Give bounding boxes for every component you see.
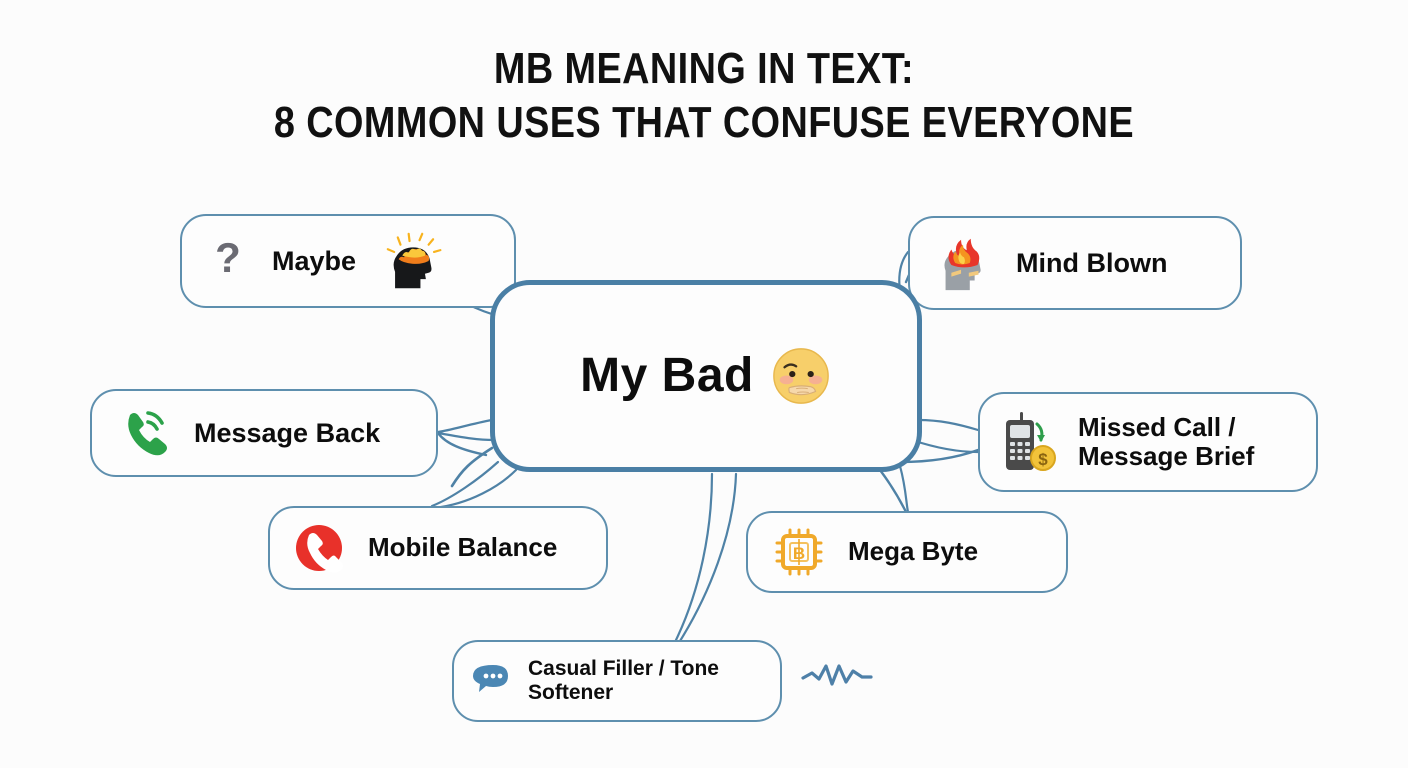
green-phone-with-waves-icon — [118, 407, 170, 459]
node-label-missed-call: Missed Call / Message Brief — [1078, 413, 1254, 471]
node-maybe[interactable]: ? Maybe — [180, 214, 516, 308]
chip-with-bitcoin-icon: B — [774, 527, 824, 577]
mobile-phone-with-dollar-coin-icon: $ — [1000, 410, 1060, 474]
question-mark-icon: ? — [210, 238, 246, 284]
node-label-mega-byte: Mega Byte — [848, 537, 978, 566]
node-label-mind-blown: Mind Blown — [1016, 248, 1167, 278]
svg-text:$: $ — [1038, 450, 1048, 469]
title-line-1: MB MEANING IN TEXT: — [99, 46, 1310, 92]
node-mega-byte[interactable]: B Mega Byte — [746, 511, 1068, 593]
node-mind-blown[interactable]: Mind Blown — [908, 216, 1242, 310]
title-line-2: 8 COMMON USES THAT CONFUSE EVERYONE — [99, 100, 1310, 146]
node-label-mobile-balance: Mobile Balance — [368, 533, 557, 562]
node-casual-filler[interactable]: Casual Filler / Tone Softener — [452, 640, 782, 722]
page-title: MB MEANING IN TEXT: 8 COMMON USES THAT C… — [0, 46, 1408, 146]
node-label-maybe: Maybe — [272, 246, 356, 276]
exploding-head-emoji — [386, 232, 444, 290]
node-missed-call[interactable]: $ Missed Call / Message Brief — [978, 392, 1318, 492]
node-message-back[interactable]: Message Back — [90, 389, 438, 477]
face-with-hand-over-mouth-emoji — [770, 345, 832, 407]
node-label-casual-filler: Casual Filler / Tone Softener — [528, 657, 766, 704]
node-label-message-back: Message Back — [194, 418, 380, 448]
blue-speech-bubble-dots-icon — [472, 660, 514, 702]
head-on-fire-emoji — [932, 232, 994, 294]
zigzag-squiggle-icon — [800, 658, 874, 694]
infographic-canvas: MB MEANING IN TEXT: 8 COMMON USES THAT C… — [0, 0, 1408, 768]
center-node-my-bad[interactable]: My Bad — [490, 280, 922, 472]
node-mobile-balance[interactable]: Mobile Balance — [268, 506, 608, 590]
svg-text:?: ? — [215, 238, 241, 281]
red-phone-receiver-icon — [294, 523, 344, 573]
center-node-label: My Bad — [580, 349, 754, 403]
